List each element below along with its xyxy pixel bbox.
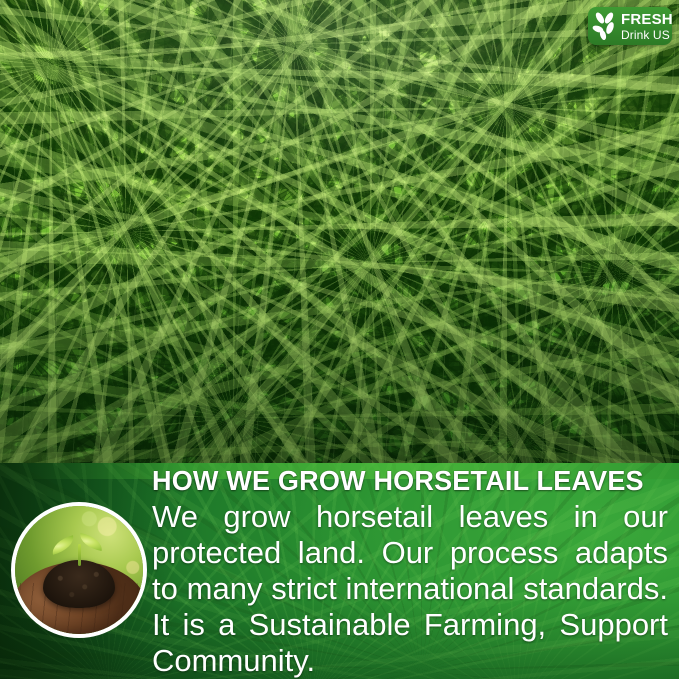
- panel-body-text: We grow horsetail leaves in our protecte…: [152, 499, 668, 679]
- circle-image-sprout-stem: [78, 544, 81, 566]
- circle-image-soil: [43, 560, 115, 609]
- logo-primary-text: FRESH: [621, 12, 673, 27]
- logo-wordmark: FRESH Drink US: [621, 12, 673, 41]
- fresh-drink-us-logo[interactable]: FRESH Drink US: [588, 7, 672, 45]
- leaf-cluster-icon: [591, 11, 618, 41]
- logo-secondary-text: Drink US: [621, 29, 673, 41]
- panel-text-block: HOW WE GROW HORSETAIL LEAVES We grow hor…: [152, 466, 668, 679]
- hero-photo-horsetail-field: [0, 0, 679, 463]
- poster-root: FRESH Drink US HOW WE GROW HORSETAIL LEA…: [0, 0, 679, 679]
- circle-image-seedling-in-hands: [11, 502, 147, 638]
- photo-vignette-layer: [0, 0, 679, 463]
- panel-headline: HOW WE GROW HORSETAIL LEAVES: [152, 466, 650, 496]
